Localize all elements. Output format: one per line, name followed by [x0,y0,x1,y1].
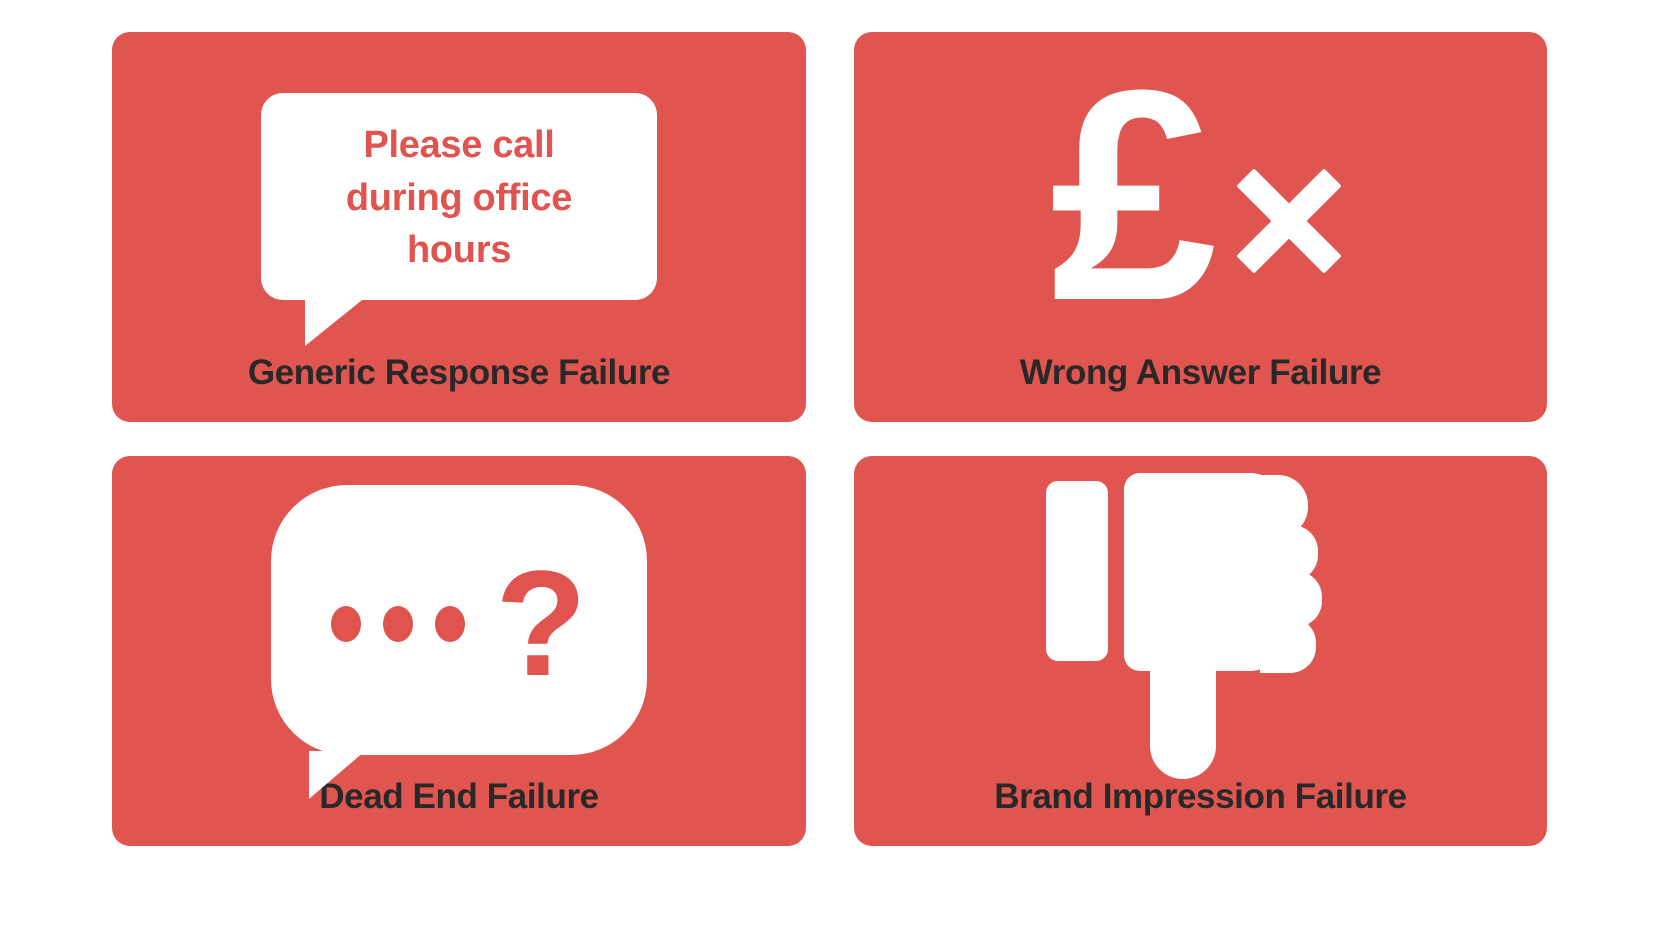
icon-area-wrong-answer-failure: £ [854,32,1547,354]
card-title-dead-end-failure: Dead End Failure [112,778,806,847]
speech-bubble-tail-icon [305,296,367,346]
card-generic-response-failure[interactable]: Please call during office hours Generic … [112,32,806,422]
card-title-wrong-answer-failure: Wrong Answer Failure [854,354,1547,423]
card-title-brand-impression-failure: Brand Impression Failure [854,778,1547,847]
dot-3 [435,606,465,642]
icon-area-dead-end-failure: ? [112,456,806,778]
thumbs-down-icon [1046,469,1356,769]
thumbs-down-knuckle-4 [1260,617,1316,673]
failure-cards-board: Please call during office hours Generic … [0,0,1672,941]
card-brand-impression-failure[interactable]: Brand Impression Failure [854,456,1547,846]
question-mark-icon: ? [495,548,587,698]
card-dead-end-failure[interactable]: ? Dead End Failure [112,456,806,846]
card-title-generic-response-failure: Generic Response Failure [112,354,806,423]
icon-area-brand-impression-failure [854,456,1547,778]
speech-bubble-line-3: hours [287,224,631,276]
dot-2 [383,606,413,642]
pound-sign-x-icon: £ [1050,78,1351,312]
speech-bubble-question-body: ? [271,485,647,755]
thumbs-down-thumb [1150,649,1216,779]
speech-bubble-question-tail-icon [309,751,365,799]
icon-area-generic-response-failure: Please call during office hours [112,32,806,354]
thumbs-down-cuff [1046,481,1108,661]
ellipsis-dots-icon [331,606,465,642]
speech-bubble-line-2: during office [287,172,631,224]
dot-1 [331,606,361,642]
speech-bubble-icon: Please call during office hours [261,93,657,300]
close-x-icon [1227,159,1351,283]
speech-bubble-line-1: Please call [287,119,631,171]
card-wrong-answer-failure[interactable]: £ Wrong Answer Failure [854,32,1547,422]
speech-bubble-question-icon: ? [271,485,647,755]
pound-sign-icon: £ [1050,78,1209,312]
speech-bubble-body: Please call during office hours [261,93,657,300]
